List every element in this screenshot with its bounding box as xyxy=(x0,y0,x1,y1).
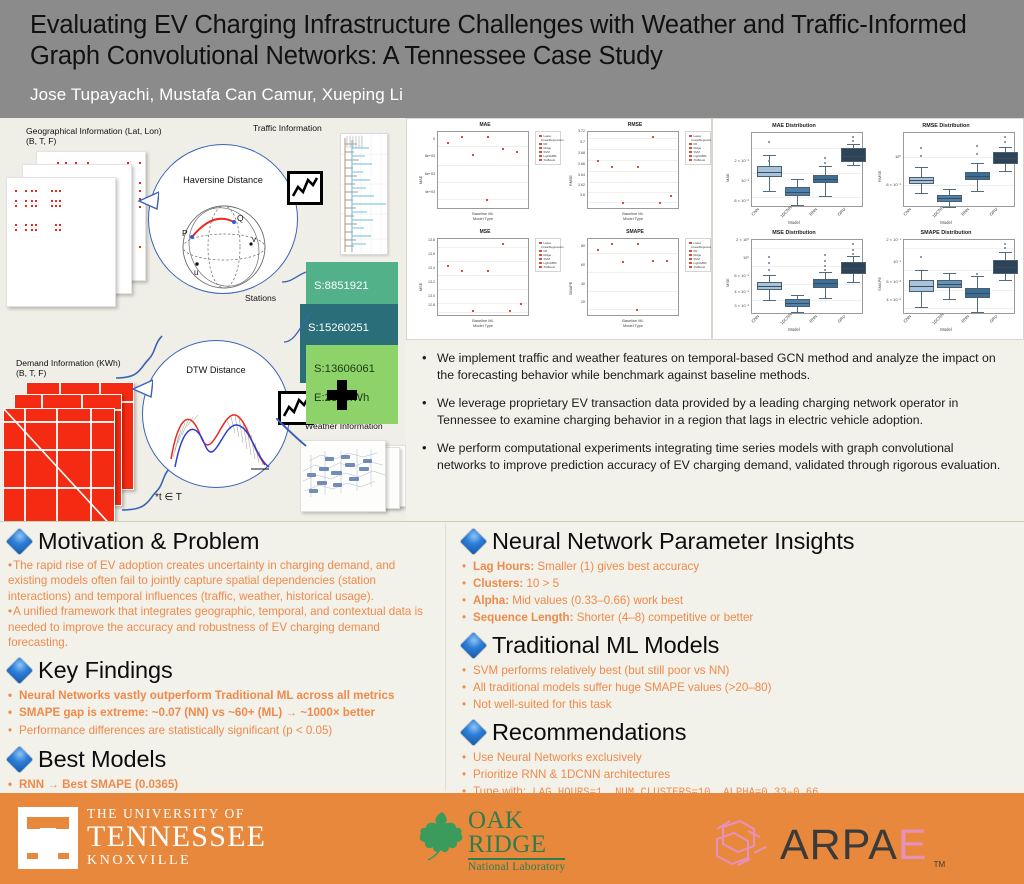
diamond-bullet-icon xyxy=(460,632,487,659)
y-tick: 80 xyxy=(563,244,585,248)
chart-title: MSE Distribution xyxy=(719,230,869,236)
ornl-logo-slot: OAK RIDGE National Laboratory xyxy=(420,793,710,884)
chart-smape-scatter: SMAPE 80 60 40 20 SMAPE Baseline ML Mode… xyxy=(561,229,709,335)
y-axis-label: SMAPE xyxy=(877,277,882,291)
y-tick: 0 xyxy=(413,137,435,141)
chart-mae-scatter: MAE 0 8e+03 6e+03 4e+03 MAE Baseline ML … xyxy=(411,122,559,228)
station-connectors xyxy=(282,268,318,378)
plus-icon xyxy=(327,380,357,410)
ornl-line-2: RIDGE xyxy=(468,833,565,860)
y-tick: 3.62 xyxy=(563,183,585,187)
y-tick: 4 × 10⁻¹ xyxy=(719,289,749,294)
traffic-information-label: Traffic Information xyxy=(253,123,322,133)
dtw-label: DTW Distance xyxy=(143,365,289,376)
right-column: Neural Network Parameter Insights Lag Ho… xyxy=(452,523,1024,791)
y-tick: 10⁰ xyxy=(871,154,901,159)
matrix-diagonal xyxy=(4,409,116,522)
chart-legend: Lasso LinearRegression RF Ridge SVM Ligh… xyxy=(685,238,711,272)
y-tick: 3 × 10⁻¹ xyxy=(719,303,749,308)
bubble-tail-bottom xyxy=(127,377,153,405)
nn-distribution-figure: MAE Distribution xyxy=(712,118,1024,340)
x-axis-label: Model xyxy=(871,220,1021,225)
list-item: Lag Hours: Smaller (1) gives best accura… xyxy=(462,558,1014,575)
x-tick: CNN xyxy=(902,314,912,324)
arpae-wordmark: ARPAE xyxy=(780,824,928,867)
chart-title: MAE xyxy=(411,122,559,128)
baseline-ml-metrics-figure: MAE 0 8e+03 6e+03 4e+03 MAE Baseline ML … xyxy=(406,118,712,340)
motivation-body: The rapid rise of EV adoption creates un… xyxy=(6,558,437,650)
y-tick: 3.66 xyxy=(563,162,585,166)
y-tick: 6 × 10⁻² xyxy=(871,279,901,284)
ut-line-1: THE UNIVERSITY OF xyxy=(87,807,266,821)
x-axis-label: Model xyxy=(719,220,869,225)
list-item: Neural Networks vastly outperform Tradit… xyxy=(8,687,437,704)
y-axis-label: MSE xyxy=(419,283,423,291)
x-tick: RNN xyxy=(808,314,818,324)
chart-rmse-distribution: RMSE Distribution xyxy=(871,122,1021,228)
section-title: Neural Network Parameter Insights xyxy=(492,528,854,555)
section-header-best-models: Best Models xyxy=(10,746,437,773)
station-id-2: S:13606061 xyxy=(314,362,391,376)
ornl-line-1: OAK xyxy=(468,809,565,833)
y-tick: 13.0 xyxy=(413,294,435,298)
weather-map-front xyxy=(300,440,386,512)
diamond-bullet-icon xyxy=(6,528,33,555)
section-title: Key Findings xyxy=(38,657,173,684)
y-tick: 6 × 10⁻¹ xyxy=(719,273,749,278)
list-item: We implement traffic and weather feature… xyxy=(420,350,1006,383)
ut-line-3: KNOXVILLE xyxy=(87,854,266,868)
list-item: Sequence Length: Shorter (4–8) competiti… xyxy=(462,609,1014,626)
list-item: SMAPE gap is extreme: ~0.07 (NN) vs ~60+… xyxy=(8,704,437,721)
list-item: Performance differences are statisticall… xyxy=(8,722,437,739)
x-axis-label: Baseline ML Model Type xyxy=(587,211,679,221)
x-axis-label: Baseline ML Model Type xyxy=(437,211,529,221)
diamond-bullet-icon xyxy=(460,719,487,746)
list-item: Clusters: 10 > 5 xyxy=(462,575,1014,592)
list-item: SVM performs relatively best (but still … xyxy=(462,662,1014,679)
x-tick: GRU xyxy=(836,207,846,217)
demand-matrix-front xyxy=(3,408,115,522)
section-header-nn-params: Neural Network Parameter Insights xyxy=(464,528,1014,555)
legend-entry: XGBoost xyxy=(544,158,556,162)
y-tick: 8e+03 xyxy=(409,154,435,158)
arpae-pink: E xyxy=(898,821,928,869)
poster-footer: THE UNIVERSITY OF TENNESSEE KNOXVILLE OA… xyxy=(0,793,1024,884)
y-tick: 3.6 xyxy=(563,193,585,197)
svg-text:Q: Q xyxy=(237,213,244,223)
chart-mse-distribution: MSE Distribution xyxy=(719,229,869,335)
y-tick: 6 × 10⁻² xyxy=(719,198,749,203)
contributions-list: We implement traffic and weather feature… xyxy=(406,340,1024,522)
legend-entry: XGBoost xyxy=(694,265,706,269)
chart-title: RMSE Distribution xyxy=(871,123,1021,129)
y-tick: 3.72 xyxy=(563,129,585,133)
list-item: Not well-suited for this task xyxy=(462,696,1014,713)
chart-mse-scatter: MSE 13.8 13.6 13.4 13.2 13.0 12.8 MSE Ba… xyxy=(411,229,559,335)
y-tick: 4 × 10⁻² xyxy=(871,297,901,302)
section-header-recommendations: Recommendations xyxy=(464,719,1014,746)
y-axis-label: RMSE xyxy=(569,175,573,186)
list-item: Prioritize RNN & 1DCNN architectures xyxy=(462,766,1014,783)
diamond-bullet-icon xyxy=(6,746,33,773)
x-tick: CNN xyxy=(902,207,912,217)
section-header-trad-ml: Traditional ML Models xyxy=(464,632,1014,659)
y-tick: 60 xyxy=(563,263,585,267)
x-tick: CNN xyxy=(750,314,760,324)
svg-text:u: u xyxy=(194,268,198,277)
paragraph: A unified framework that integrates geog… xyxy=(8,604,435,650)
y-tick: 13.4 xyxy=(413,266,435,270)
y-axis-label: RMSE xyxy=(877,170,882,182)
key-findings-list: Neural Networks vastly outperform Tradit… xyxy=(6,687,437,738)
x-axis-label: Model xyxy=(719,327,869,332)
methodology-diagram: Geographical Information (Lat, Lon) (B, … xyxy=(0,118,406,522)
y-tick: 10⁰ xyxy=(719,255,749,260)
content-columns: Motivation & Problem The rapid rise of E… xyxy=(0,523,1024,791)
y-axis-label: MAE xyxy=(419,176,423,184)
traffic-timeseries-card xyxy=(340,133,388,255)
oak-leaf-icon xyxy=(420,809,464,861)
dtw-bubble: DTW Distance xyxy=(142,340,290,488)
x-tick: RNN xyxy=(960,207,970,217)
chart-legend: Lasso LinearRegression RF Ridge SVM Ligh… xyxy=(685,131,711,165)
y-tick: 10⁻¹ xyxy=(871,259,901,264)
y-tick: 13.6 xyxy=(413,252,435,256)
poster-root: Evaluating EV Charging Infrastructure Ch… xyxy=(0,0,1024,884)
legend-entry: XGBoost xyxy=(544,265,556,269)
x-tick: CNN xyxy=(750,207,760,217)
y-tick: 13.2 xyxy=(413,280,435,284)
diamond-bullet-icon xyxy=(6,658,33,685)
section-title: Traditional ML Models xyxy=(492,632,719,659)
station-id-0: S:8851921 xyxy=(314,279,391,293)
diamond-bullet-icon xyxy=(460,528,487,555)
y-tick: 3.68 xyxy=(563,151,585,155)
section-title: Best Models xyxy=(38,746,166,773)
y-tick: 2 × 10⁰ xyxy=(719,237,749,242)
y-axis-label: MSE xyxy=(725,278,730,287)
page-title: Evaluating EV Charging Infrastructure Ch… xyxy=(30,10,980,72)
legend-entry: XGBoost xyxy=(694,158,706,162)
x-tick: GRU xyxy=(988,207,998,217)
haversine-bubble: Haversine Distance P Q u v xyxy=(148,144,298,294)
y-tick: 12.8 xyxy=(413,303,435,307)
tennessee-map xyxy=(301,441,386,512)
y-axis-label: MAE xyxy=(725,173,730,182)
x-tick: GRU xyxy=(836,314,846,324)
list-item: Use Neural Networks exclusively xyxy=(462,749,1014,766)
top-band: Geographical Information (Lat, Lon) (B, … xyxy=(0,118,1024,522)
list-item: RNN → Best SMAPE (0.0365) xyxy=(8,776,437,793)
section-title: Recommendations xyxy=(492,719,686,746)
chart-legend: Lasso LinearRegression RF Ridge SVM Ligh… xyxy=(535,238,561,272)
ut-power-t-icon xyxy=(18,807,78,869)
station-id-1: S:15260251 xyxy=(308,321,391,335)
chart-mae-distribution: MAE Distribution xyxy=(719,122,869,228)
arpae-logo-slot: ARPAE TM xyxy=(710,793,1024,884)
geo-information-label: Geographical Information (Lat, Lon) (B, … xyxy=(26,126,162,147)
haversine-sphere: P Q u v xyxy=(167,203,282,291)
y-tick: 3.7 xyxy=(563,140,585,144)
y-tick: 10⁻¹ xyxy=(719,178,749,183)
y-tick: 6 × 10⁻¹ xyxy=(871,182,901,187)
list-item: All traditional models suffer huge SMAPE… xyxy=(462,679,1014,696)
ut-logo-slot: THE UNIVERSITY OF TENNESSEE KNOXVILLE xyxy=(0,793,420,884)
y-tick: 40 xyxy=(563,282,585,286)
x-tick: GRU xyxy=(988,314,998,324)
y-tick: 3.64 xyxy=(563,173,585,177)
chart-legend: Lasso LinearRegression RF Ridge SVM Ligh… xyxy=(535,131,561,165)
chart-title: RMSE xyxy=(561,122,709,128)
demand-information-label: Demand Information (KWh) (B, T, F) xyxy=(16,358,121,379)
author-list: Jose Tupayachi, Mustafa Can Camur, Xuepi… xyxy=(30,85,994,105)
left-column: Motivation & Problem The rapid rise of E… xyxy=(0,523,446,791)
x-axis-label: Model xyxy=(871,327,1021,332)
paragraph: The rapid rise of EV adoption creates un… xyxy=(8,558,435,604)
ornl-line-3: National Laboratory xyxy=(468,862,565,873)
trad-ml-list: SVM performs relatively best (but still … xyxy=(460,662,1014,713)
nn-params-list: Lag Hours: Smaller (1) gives best accura… xyxy=(460,558,1014,626)
geo-dot-grid-front xyxy=(13,184,109,300)
y-tick: 20 xyxy=(563,300,585,304)
bubble-tail-top xyxy=(133,189,159,217)
weather-connector xyxy=(276,418,310,452)
section-title: Motivation & Problem xyxy=(38,528,259,555)
x-axis-label: Baseline ML Model Type xyxy=(437,318,529,328)
chart-title: SMAPE Distribution xyxy=(871,230,1021,236)
band-divider xyxy=(0,521,1024,522)
chart-smape-distribution: SMAPE Distribution xyxy=(871,229,1021,335)
y-tick: 13.8 xyxy=(413,238,435,242)
y-tick: 2 × 10⁻¹ xyxy=(719,158,749,163)
traffic-timeseries xyxy=(341,134,388,255)
arpae-trademark: TM xyxy=(934,860,946,869)
svg-text:v: v xyxy=(252,235,256,244)
ut-line-2: TENNESSEE xyxy=(87,822,266,852)
chart-title: MAE Distribution xyxy=(719,123,869,129)
chart-title: MSE xyxy=(411,229,559,235)
list-item: We leverage proprietary EV transaction d… xyxy=(420,395,1006,428)
y-tick: 2 × 10⁻¹ xyxy=(871,237,901,242)
y-axis-label: SMAPE xyxy=(569,282,573,295)
x-axis-label: Baseline ML Model Type xyxy=(587,318,679,328)
x-tick: RNN xyxy=(960,314,970,324)
y-tick: 4e+03 xyxy=(409,190,435,194)
arpae-dark: ARPA xyxy=(780,821,898,869)
x-tick: RNN xyxy=(808,207,818,217)
dtw-curves xyxy=(165,395,273,475)
chart-rmse-scatter: RMSE 3.72 3.7 3.68 3.66 3.64 3.62 3.6 xyxy=(561,122,709,228)
haversine-label: Haversine Distance xyxy=(149,175,297,186)
poster-header: Evaluating EV Charging Infrastructure Ch… xyxy=(0,0,1024,118)
list-item: Alpha: Mid values (0.33–0.66) work best xyxy=(462,592,1014,609)
svg-text:P: P xyxy=(182,228,188,238)
list-item: We perform computational experiments int… xyxy=(420,440,1006,473)
section-header-key-findings: Key Findings xyxy=(10,657,437,684)
section-header-motivation: Motivation & Problem xyxy=(10,528,437,555)
line-chart-icon-top xyxy=(287,171,323,205)
arpae-hexagon-icon xyxy=(710,817,774,873)
chart-title: SMAPE xyxy=(561,229,709,235)
stations-label: Stations xyxy=(245,293,276,303)
